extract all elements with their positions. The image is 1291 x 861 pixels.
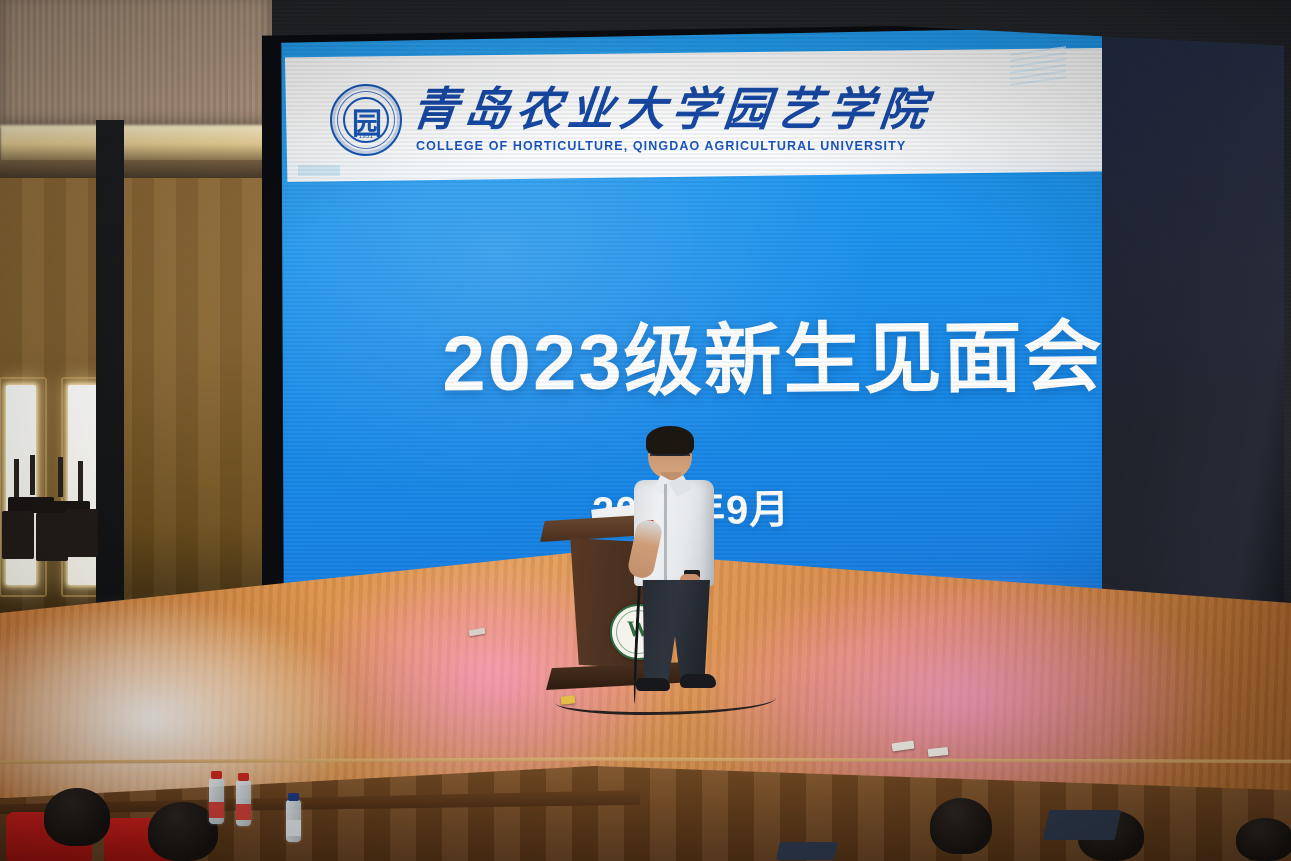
water-bottle	[286, 800, 301, 842]
university-seal-icon: 园 1951	[330, 84, 402, 156]
audience-head	[44, 788, 110, 846]
acoustic-wall-column	[96, 120, 124, 645]
header-accent-mark	[298, 165, 340, 176]
slide-title: 2023级新生见面会	[441, 295, 1104, 414]
ceiling-ribbed-panel	[0, 0, 272, 128]
auditorium-photo: 园 1951 青岛农业大学园艺学院 COLLEGE OF HORTICULTUR…	[0, 0, 1291, 861]
presenter-shoe	[680, 674, 716, 688]
presenter-at-podium	[630, 428, 722, 692]
presenter-shoe	[636, 678, 670, 691]
audience-head	[1236, 818, 1291, 861]
slide-header-band: 园 1951 青岛农业大学园艺学院 COLLEGE OF HORTICULTUR…	[280, 48, 1106, 182]
presenter-trousers	[640, 580, 710, 684]
glasses-icon	[650, 454, 690, 465]
seal-year: 1951	[359, 134, 374, 140]
audience-head	[930, 798, 992, 854]
college-logo: 园 1951 青岛农业大学园艺学院 COLLEGE OF HORTICULTUR…	[330, 84, 932, 156]
presenter-hair	[646, 426, 694, 456]
audience-device	[776, 842, 838, 860]
shirt-placket	[664, 484, 667, 580]
water-bottle	[236, 780, 251, 826]
audience-head	[148, 802, 218, 861]
audience-foreground	[0, 770, 1291, 861]
college-name-en: COLLEGE OF HORTICULTURE, QINGDAO AGRICUL…	[416, 140, 932, 153]
stacked-chairs	[0, 455, 100, 560]
college-name-cn: 青岛农业大学园艺学院	[410, 87, 935, 133]
water-bottle	[209, 778, 224, 824]
audience-laptop	[1043, 810, 1121, 840]
